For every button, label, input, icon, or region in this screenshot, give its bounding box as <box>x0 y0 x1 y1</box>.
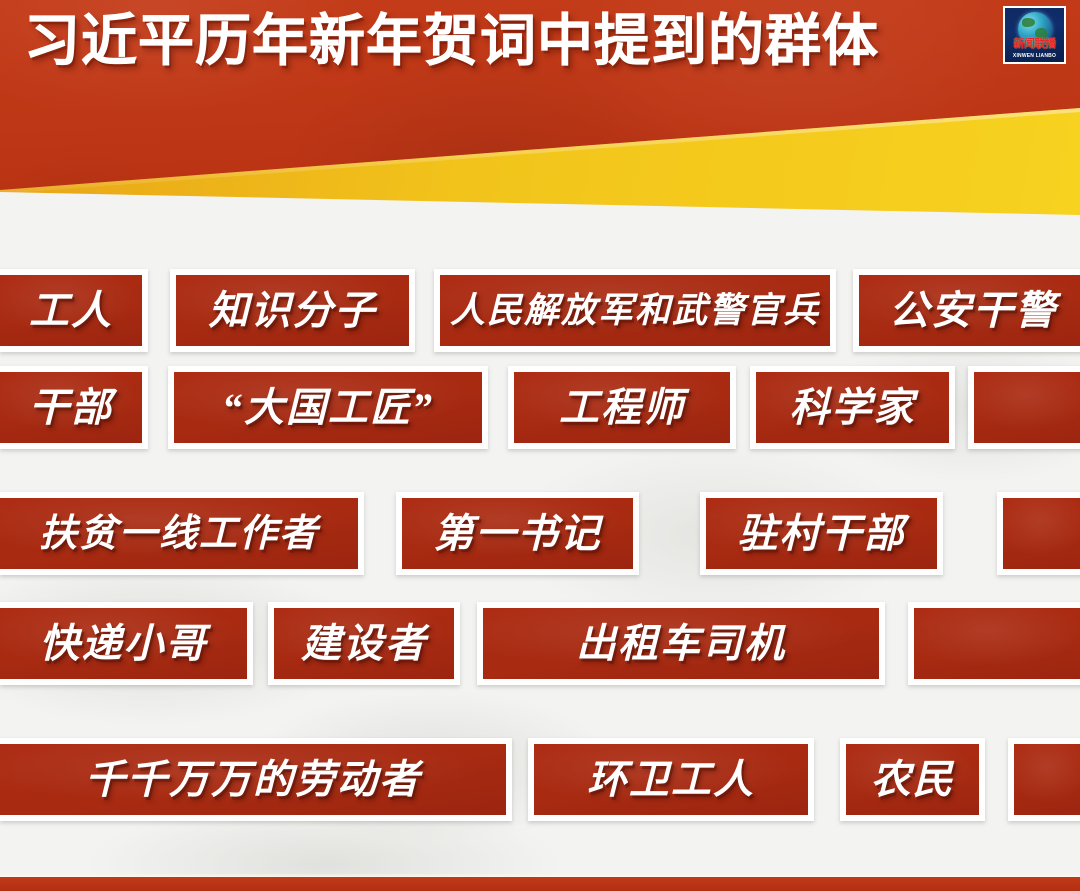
tag-row: 快递小哥建设者出租车司机 <box>0 602 1080 685</box>
tag-rows-container: 工人知识分子人民解放军和武警官兵公安干警干部“大国工匠”工程师科学家扶贫一线工作… <box>0 0 1080 891</box>
group-tag-label: 驻村干部 <box>738 514 906 554</box>
group-tag-plate: 科学家 <box>756 372 949 443</box>
group-tag[interactable]: 人民解放军和武警官兵 <box>434 269 836 352</box>
group-tag-plate <box>1014 744 1080 815</box>
group-tag[interactable]: 科学家 <box>750 366 955 449</box>
group-tag-plate: 干部 <box>0 372 142 443</box>
tag-row: 扶贫一线工作者第一书记驻村干部 <box>0 492 1080 575</box>
group-tag-plate: 知识分子 <box>176 275 409 346</box>
group-tag-label: 快递小哥 <box>40 624 208 664</box>
group-tag-plate: 千千万万的劳动者 <box>0 744 506 815</box>
group-tag-plate: 环卫工人 <box>534 744 808 815</box>
group-tag[interactable]: 驻村干部 <box>700 492 943 575</box>
group-tag-plate: 公安干警 <box>859 275 1080 346</box>
group-tag-label: 人民解放军和武警官兵 <box>450 293 820 328</box>
group-tag-plate: 快递小哥 <box>0 608 247 679</box>
group-tag-plate: 第一书记 <box>402 498 633 569</box>
group-tag[interactable]: 快递小哥 <box>0 602 253 685</box>
group-tag-label: 环卫工人 <box>587 760 755 800</box>
group-tag[interactable]: 工程师 <box>508 366 736 449</box>
group-tag[interactable] <box>1008 738 1080 821</box>
group-tag-label: 知识分子 <box>209 291 377 331</box>
group-tag-plate: 农民 <box>846 744 979 815</box>
poster-root: 习近平历年新年贺词中提到的群体 新闻联播 XINWEN LIANBO 工人知识分… <box>0 0 1080 891</box>
group-tag[interactable] <box>908 602 1080 685</box>
group-tag-label: 干部 <box>29 388 113 428</box>
group-tag-label: 第一书记 <box>434 514 602 554</box>
group-tag[interactable]: 公安干警 <box>853 269 1080 352</box>
group-tag-label: 科学家 <box>790 388 916 428</box>
group-tag[interactable] <box>997 492 1080 575</box>
group-tag-label: 工程师 <box>559 388 685 428</box>
group-tag-label: 扶贫一线工作者 <box>39 515 319 553</box>
group-tag[interactable]: 千千万万的劳动者 <box>0 738 512 821</box>
tag-row: 干部“大国工匠”工程师科学家 <box>0 366 1080 449</box>
group-tag-label: 工人 <box>29 291 113 331</box>
group-tag-label: 千千万万的劳动者 <box>85 760 421 800</box>
group-tag[interactable]: “大国工匠” <box>168 366 488 449</box>
group-tag[interactable]: 农民 <box>840 738 985 821</box>
group-tag-plate <box>914 608 1080 679</box>
group-tag[interactable]: 干部 <box>0 366 148 449</box>
group-tag-plate <box>974 372 1080 443</box>
group-tag-label: “大国工匠” <box>222 388 434 428</box>
group-tag-plate: 人民解放军和武警官兵 <box>440 275 830 346</box>
tag-row: 千千万万的劳动者环卫工人农民 <box>0 738 1080 821</box>
group-tag[interactable]: 环卫工人 <box>528 738 814 821</box>
group-tag-plate: 工程师 <box>514 372 730 443</box>
group-tag-label: 公安干警 <box>889 291 1057 331</box>
group-tag[interactable]: 建设者 <box>268 602 460 685</box>
group-tag[interactable]: 工人 <box>0 269 148 352</box>
group-tag[interactable]: 出租车司机 <box>477 602 885 685</box>
group-tag-plate <box>1003 498 1080 569</box>
group-tag-label: 建设者 <box>301 624 427 664</box>
group-tag-plate: 扶贫一线工作者 <box>0 498 358 569</box>
group-tag[interactable] <box>968 366 1080 449</box>
tag-row: 工人知识分子人民解放军和武警官兵公安干警 <box>0 269 1080 352</box>
group-tag-label: 农民 <box>871 760 955 800</box>
bottom-red-strip <box>0 877 1080 891</box>
group-tag[interactable]: 扶贫一线工作者 <box>0 492 364 575</box>
group-tag-plate: “大国工匠” <box>174 372 482 443</box>
group-tag-plate: 工人 <box>0 275 142 346</box>
group-tag-label: 出租车司机 <box>576 624 786 664</box>
group-tag-plate: 出租车司机 <box>483 608 879 679</box>
group-tag[interactable]: 第一书记 <box>396 492 639 575</box>
group-tag-plate: 驻村干部 <box>706 498 937 569</box>
group-tag-plate: 建设者 <box>274 608 454 679</box>
group-tag[interactable]: 知识分子 <box>170 269 415 352</box>
